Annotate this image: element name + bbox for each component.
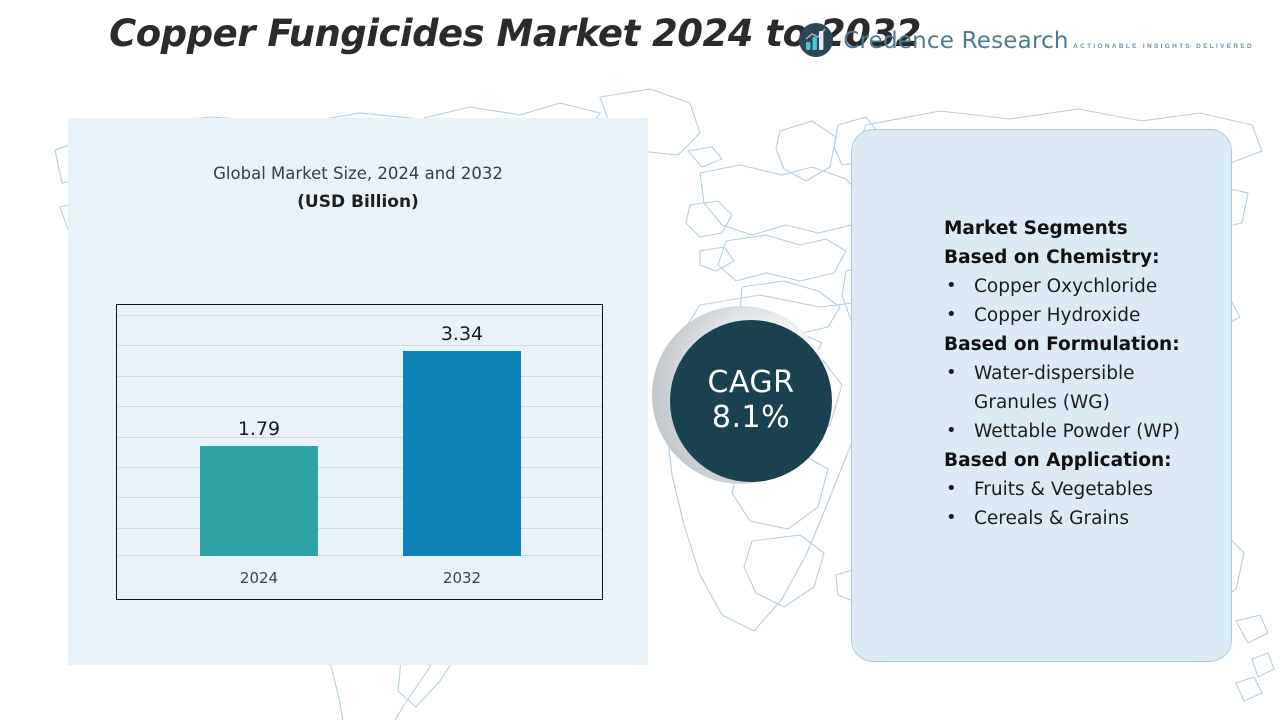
segments-groups: Based on Chemistry:•Copper Oxychloride•C… bbox=[944, 243, 1231, 533]
category-label-2024: 2024 bbox=[180, 569, 338, 587]
segment-item-label: Fruits & Vegetables bbox=[974, 479, 1153, 500]
segments-title: Market Segments bbox=[944, 214, 1231, 243]
chart-heading: Global Market Size, 2024 and 2032 bbox=[68, 164, 648, 183]
segment-item: •Wettable Powder (WP) bbox=[944, 417, 1220, 446]
bullet-icon: • bbox=[946, 301, 957, 329]
cagr-label: CAGR bbox=[707, 367, 794, 399]
segment-item-label: Wettable Powder (WP) bbox=[974, 421, 1180, 442]
chart-panel: Global Market Size, 2024 and 2032 (USD B… bbox=[68, 118, 648, 665]
segment-item: •Water-dispersible Granules (WG) bbox=[944, 359, 1220, 417]
bullet-icon: • bbox=[946, 475, 957, 503]
chart-subheading: (USD Billion) bbox=[68, 192, 648, 212]
market-segments-panel: Market Segments Based on Chemistry:•Copp… bbox=[851, 129, 1232, 662]
bar-2032 bbox=[403, 351, 521, 556]
bar-chart: 1.793.34 20242032 bbox=[116, 304, 603, 600]
bar-value-label: 3.34 bbox=[383, 323, 541, 345]
segment-group-heading-1: Based on Formulation: bbox=[944, 330, 1231, 359]
bar-value-label: 1.79 bbox=[180, 418, 338, 440]
segment-item-label: Water-dispersible Granules (WG) bbox=[974, 363, 1134, 413]
bullet-icon: • bbox=[946, 272, 957, 300]
segment-item: •Copper Oxychloride bbox=[944, 272, 1220, 301]
bullet-icon: • bbox=[946, 417, 957, 445]
category-label-2032: 2032 bbox=[383, 569, 541, 587]
cagr-badge: CAGR 8.1% bbox=[670, 320, 832, 482]
segment-item-label: Copper Hydroxide bbox=[974, 305, 1140, 326]
chart-plot-area: 1.793.34 bbox=[117, 305, 602, 556]
segment-item: •Cereals & Grains bbox=[944, 504, 1220, 533]
brand-logo: Credence Research Actionable Insights De… bbox=[798, 22, 1254, 58]
cagr-value: 8.1% bbox=[712, 400, 790, 435]
bullet-icon: • bbox=[946, 359, 957, 387]
bullet-icon: • bbox=[946, 504, 957, 532]
segment-item: •Copper Hydroxide bbox=[944, 301, 1220, 330]
bar-chart-circle-icon bbox=[798, 22, 834, 58]
logo-name: Credence Research bbox=[843, 28, 1069, 54]
logo-tagline: Actionable Insights Delivered bbox=[1073, 43, 1254, 50]
segment-item: •Fruits & Vegetables bbox=[944, 475, 1220, 504]
segment-group-heading-2: Based on Application: bbox=[944, 446, 1231, 475]
segment-item-label: Copper Oxychloride bbox=[974, 276, 1157, 297]
bar-2024 bbox=[200, 446, 318, 556]
segment-group-heading-0: Based on Chemistry: bbox=[944, 243, 1231, 272]
segment-item-label: Cereals & Grains bbox=[974, 508, 1129, 529]
